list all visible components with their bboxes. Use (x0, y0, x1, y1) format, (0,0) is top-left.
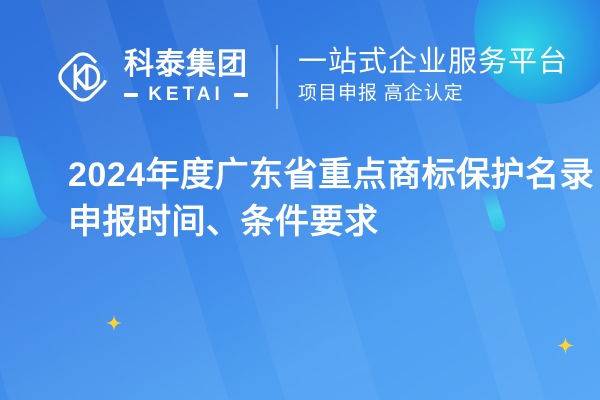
brand-name-cn: 科泰集团 (124, 50, 248, 80)
headline-line-1: 2024年度广东省重点商标保护名录 (68, 152, 588, 199)
sparkle-icon (557, 337, 574, 359)
header-divider (276, 45, 278, 109)
tagline-primary: 一站式企业服务平台 (298, 47, 568, 78)
dash-decoration-left (124, 93, 138, 97)
tagline-block: 一站式企业服务平台 项目申报 高企认定 (298, 47, 568, 107)
promo-banner: 科泰集团 KETAI 一站式企业服务平台 项目申报 高企认定 2024年度广东省… (0, 0, 600, 400)
sparkle-icon (106, 315, 122, 336)
brand-wordmark: 科泰集团 KETAI (124, 50, 248, 104)
cyan-blob-decoration-left (0, 136, 58, 238)
headline-line-2: 申报时间、条件要求 (68, 199, 588, 246)
dash-decoration-right (234, 93, 248, 97)
banner-header: 科泰集团 KETAI 一站式企业服务平台 项目申报 高企认定 (0, 38, 600, 116)
ketai-diamond-monogram-icon (52, 46, 114, 108)
brand-name-en-row: KETAI (124, 85, 248, 104)
tagline-secondary: 项目申报 高企认定 (298, 81, 568, 107)
brand-logo[interactable]: 科泰集团 KETAI (52, 46, 248, 108)
headline-block: 2024年度广东省重点商标保护名录 申报时间、条件要求 (68, 152, 588, 246)
brand-name-en: KETAI (143, 85, 229, 104)
